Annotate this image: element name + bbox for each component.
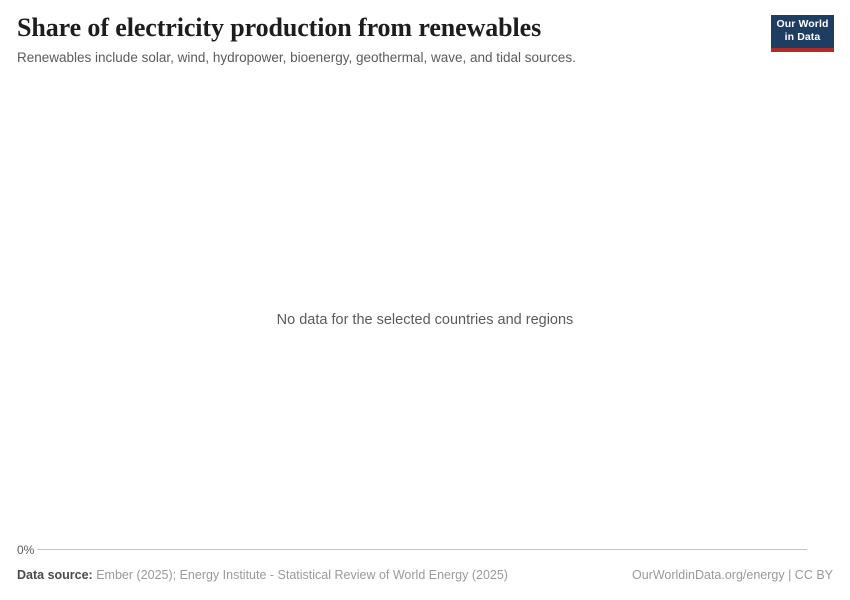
chart-footer: Data source: Ember (2025); Energy Instit… (17, 566, 833, 586)
data-source-label: Data source: (17, 568, 93, 582)
axis-baseline (37, 549, 807, 550)
data-source: Data source: Ember (2025); Energy Instit… (17, 566, 508, 584)
attribution-link[interactable]: OurWorldinData.org/energy | CC BY (632, 566, 833, 584)
chart-subtitle: Renewables include solar, wind, hydropow… (17, 49, 833, 67)
logo-line-1: Our World (776, 18, 828, 31)
our-world-in-data-logo[interactable]: Our World in Data (771, 15, 834, 52)
logo-accent-bar (771, 48, 834, 52)
plot-area: No data for the selected countries and r… (17, 76, 833, 538)
y-axis-tick-label-0: 0% (17, 542, 34, 558)
chart-header: Share of electricity production from ren… (17, 12, 833, 68)
page-title: Share of electricity production from ren… (17, 12, 833, 44)
logo-line-2: in Data (785, 31, 821, 44)
data-source-text: Ember (2025); Energy Institute - Statist… (93, 568, 508, 582)
chart-container: Share of electricity production from ren… (0, 0, 850, 600)
y-axis: 0% (17, 542, 807, 558)
no-data-message: No data for the selected countries and r… (17, 310, 833, 330)
